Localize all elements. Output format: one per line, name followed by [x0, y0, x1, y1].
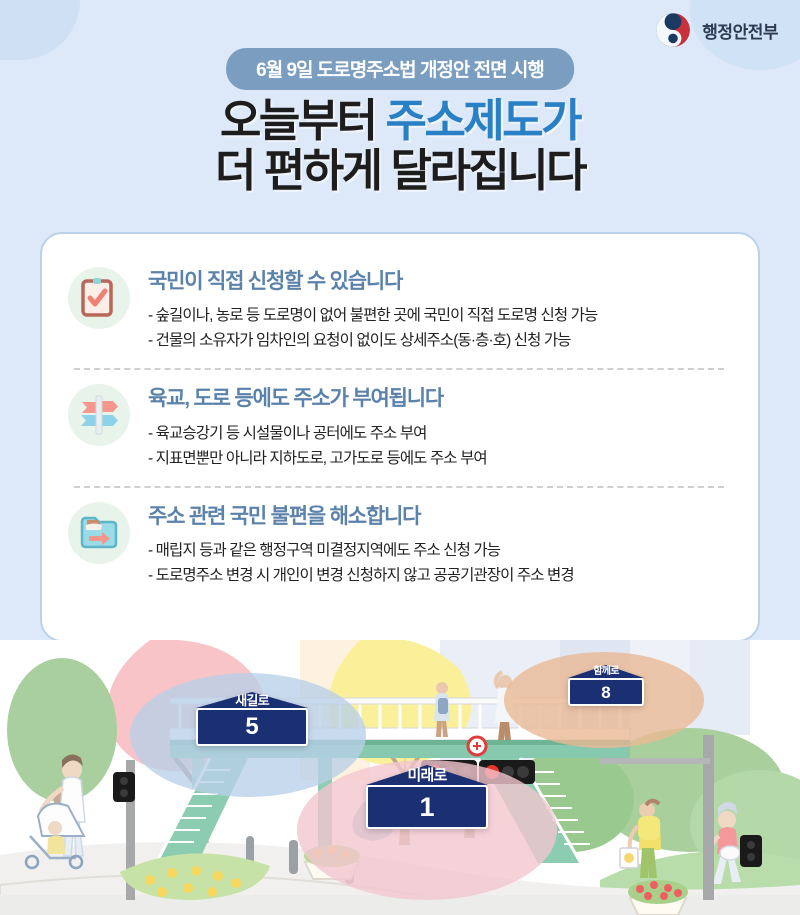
- road-sign: 새길로 5: [196, 708, 308, 746]
- headline-line2: 더 편하게 달라집니다: [0, 146, 800, 196]
- section-divider: [74, 368, 724, 370]
- road-sign: 함께로 8: [568, 678, 644, 706]
- ministry-name: 행정안전부: [702, 18, 778, 43]
- road-sign-number: 1: [419, 794, 434, 821]
- feature-section: 국민이 직접 신청할 수 있습니다 - 숲길이나, 농로 등 도로명이 없어 불…: [68, 260, 730, 359]
- road-sign-number: 5: [245, 715, 258, 739]
- clipboard-check-icon: [68, 267, 130, 329]
- section-title: 국민이 직접 신청할 수 있습니다: [148, 269, 730, 294]
- road-sign-name: 새길로: [196, 694, 308, 707]
- infographic-poster: 행정안전부 6월 9일 도로명주소법 개정안 전면 시행 오늘부터 주소제도가 …: [0, 0, 800, 915]
- signpost-icon: [68, 384, 130, 446]
- feature-section: 육교, 도로 등에도 주소가 부여됩니다 - 육교승강기 등 시설물이나 공터에…: [68, 377, 730, 476]
- page-title: 오늘부터 주소제도가 더 편하게 달라집니다: [0, 96, 800, 197]
- ministry-logo: 행정안전부: [653, 10, 778, 50]
- section-title: 육교, 도로 등에도 주소가 부여됩니다: [148, 386, 730, 411]
- section-bullet: - 도로명주소 변경 시 개인이 변경 신청하지 않고 공공기관장이 주소 변경: [148, 563, 730, 588]
- road-sign-name: 미래로: [366, 768, 488, 783]
- headline-line1-plain: 오늘부터: [220, 95, 386, 146]
- content-card: 국민이 직접 신청할 수 있습니다 - 숲길이나, 농로 등 도로명이 없어 불…: [40, 232, 760, 642]
- section-bullet: - 건물의 소유자가 임차인의 요청이 없이도 상세주소(동·층·호) 신청 가…: [148, 328, 730, 353]
- section-bullet: - 매립지 등과 같은 행정구역 미결정지역에도 주소 신청 가능: [148, 538, 730, 563]
- announcement-banner: 6월 9일 도로명주소법 개정안 전면 시행: [226, 48, 574, 90]
- road-sign-number: 8: [601, 684, 610, 701]
- korea-government-taegeuk-logo-icon: [653, 10, 693, 50]
- headline-line1-accent: 주소제도가: [386, 95, 581, 146]
- folder-arrow-icon: [68, 502, 130, 564]
- feature-section: 주소 관련 국민 불편을 해소합니다 - 매립지 등과 같은 행정구역 미결정지…: [68, 495, 730, 594]
- section-divider: [74, 486, 724, 488]
- section-title: 주소 관련 국민 불편을 해소합니다: [148, 504, 730, 529]
- section-bullet: - 지표면뿐만 아니라 지하도로, 고가도로 등에도 주소 부여: [148, 446, 730, 471]
- section-bullet: - 육교승강기 등 시설물이나 공터에도 주소 부여: [148, 421, 730, 446]
- street-scene-illustration: 새길로 5 미래로 1 함께로 8: [0, 640, 800, 915]
- section-bullet: - 숲길이나, 농로 등 도로명이 없어 불편한 곳에 국민이 직접 도로명 신…: [148, 303, 730, 328]
- road-sign: 미래로 1: [366, 785, 488, 829]
- road-sign-name: 함께로: [568, 667, 644, 677]
- decorative-blob-top-left: [0, 0, 80, 60]
